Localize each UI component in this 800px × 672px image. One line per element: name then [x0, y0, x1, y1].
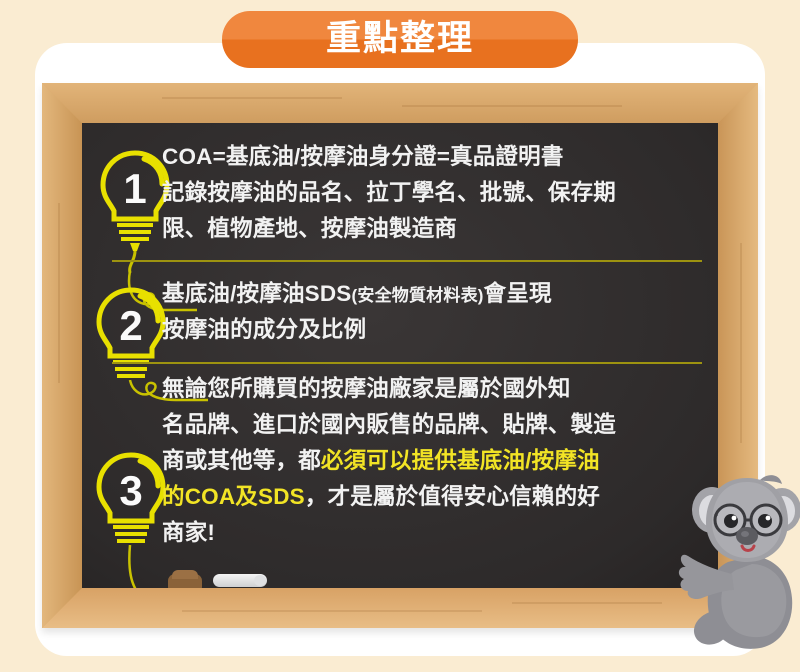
item-1-divider: [112, 260, 702, 262]
frame-bottom-rail: [42, 588, 758, 628]
item-3-line-5: 商家!: [162, 515, 215, 551]
bulb-number-1: 1: [123, 165, 146, 212]
bulb-number-3: 3: [119, 467, 142, 514]
blackboard-eraser-icon: [172, 570, 198, 579]
item-3-line-1: 無論您所購買的按摩油廠家是屬於國外知: [162, 371, 571, 407]
item-2-divider: [112, 362, 702, 364]
board-content: 1 COA=基底油/按摩油身分證=真品證明書 記錄按摩油的品名、拉丁學名、批號、…: [82, 123, 718, 588]
koala-mascot: [676, 466, 800, 672]
page-title: 重點整理: [326, 21, 474, 59]
item-3-line-2: 名品牌、進口於國內販售的品牌、貼牌、製造: [162, 407, 616, 443]
item-3-line-3: 商或其他等，都必須可以提供基底油/按摩油: [162, 443, 600, 479]
item-2-line-2: 按摩油的成分及比例: [162, 312, 366, 348]
item-2-line-1: 基底油/按摩油SDS(安全物質材料表)會呈現: [162, 276, 552, 314]
screenshot-root: 重點整理: [0, 0, 800, 672]
chalk-stick-tip: [254, 575, 266, 586]
item-1-line-1: COA=基底油/按摩油身分證=真品證明書: [162, 139, 564, 175]
frame-left-rail: [42, 83, 82, 628]
item-1-line-2: 記錄按摩油的品名、拉丁學名、批號、保存期: [162, 175, 616, 211]
item-3-line-4: 的COA及SDS，才是屬於值得安心信賴的好: [162, 479, 600, 515]
item-1-line-3: 限、植物產地、按摩油製造商: [162, 211, 457, 247]
chalkboard-surface: 1 COA=基底油/按摩油身分證=真品證明書 記錄按摩油的品名、拉丁學名、批號、…: [82, 123, 718, 588]
frame-top-rail: [42, 83, 758, 123]
blackboard-frame: 1 COA=基底油/按摩油身分證=真品證明書 記錄按摩油的品名、拉丁學名、批號、…: [42, 83, 758, 628]
bulb-number-2: 2: [119, 302, 142, 349]
title-banner: 重點整理: [222, 11, 578, 68]
